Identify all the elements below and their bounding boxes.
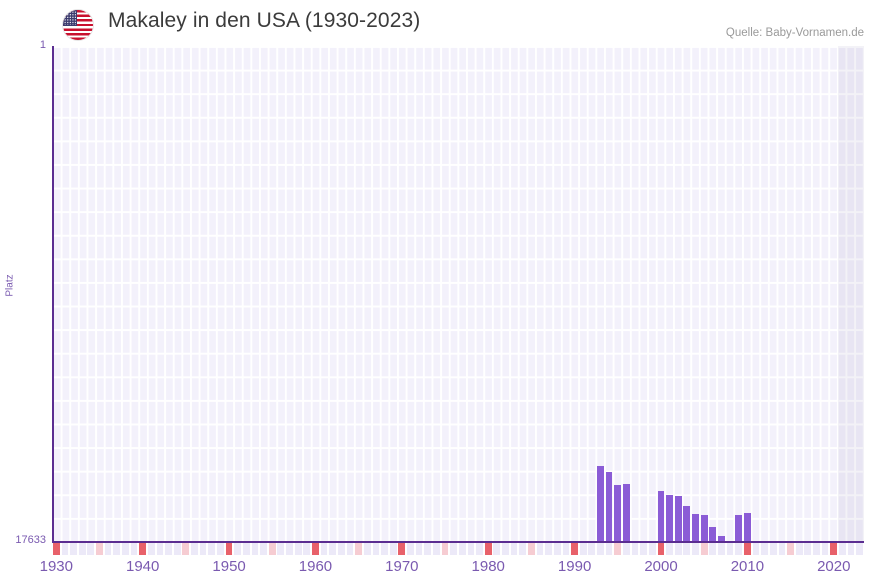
bar-2003 (683, 506, 690, 541)
x-tick-cell-1999 (649, 543, 656, 555)
bar-2002 (675, 496, 682, 541)
x-tick-cell-2017 (804, 543, 811, 555)
x-tick-major-2020 (830, 543, 837, 555)
x-tick-cell-2022 (848, 543, 855, 555)
x-tick-cell-1974 (433, 543, 440, 555)
x-tick-cell-1972 (416, 543, 423, 555)
x-tick-cell-1986 (537, 543, 544, 555)
x-axis-label-2000: 2000 (644, 558, 677, 575)
x-tick-major-1930 (53, 543, 60, 555)
x-tick-minor-2015 (787, 543, 794, 555)
x-tick-cell-1981 (493, 543, 500, 555)
x-tick-cell-1968 (381, 543, 388, 555)
x-tick-minor-1935 (96, 543, 103, 555)
x-tick-cell-2018 (813, 543, 820, 555)
x-tick-major-1940 (139, 543, 146, 555)
x-tick-major-2010 (744, 543, 751, 555)
x-axis-label-1940: 1940 (126, 558, 159, 575)
x-tick-cell-2006 (709, 543, 716, 555)
x-axis-tick-strip (52, 543, 864, 555)
x-tick-cell-2014 (779, 543, 786, 555)
x-tick-minor-1965 (355, 543, 362, 555)
x-axis-label-1930: 1930 (40, 558, 73, 575)
x-tick-cell-1938 (122, 543, 129, 555)
x-axis-label-1990: 1990 (558, 558, 591, 575)
x-tick-cell-1966 (364, 543, 371, 555)
x-tick-cell-1996 (623, 543, 630, 555)
bar-2006 (709, 527, 716, 541)
x-tick-cell-2023 (856, 543, 863, 555)
x-tick-cell-1956 (277, 543, 284, 555)
x-tick-cell-1932 (70, 543, 77, 555)
bar-1996 (623, 484, 630, 541)
x-tick-minor-1945 (182, 543, 189, 555)
x-tick-cell-1936 (105, 543, 112, 555)
x-tick-cell-1947 (200, 543, 207, 555)
x-tick-cell-2021 (839, 543, 846, 555)
plot-area (52, 46, 864, 541)
x-tick-minor-1975 (442, 543, 449, 555)
bar-2010 (744, 513, 751, 541)
x-tick-cell-1976 (450, 543, 457, 555)
x-tick-cell-1951 (234, 543, 241, 555)
x-tick-cell-1982 (502, 543, 509, 555)
x-tick-cell-2002 (675, 543, 682, 555)
source-note: Quelle: Baby-Vornamen.de (726, 27, 864, 39)
x-tick-cell-1993 (597, 543, 604, 555)
x-axis-label-2020: 2020 (817, 558, 850, 575)
x-tick-minor-1995 (614, 543, 621, 555)
x-tick-cell-1973 (424, 543, 431, 555)
y-axis-label-top: 1 (0, 39, 46, 51)
bar-1994 (606, 472, 613, 541)
bar-2000 (658, 491, 665, 541)
x-tick-cell-1954 (260, 543, 267, 555)
x-tick-cell-1964 (347, 543, 354, 555)
x-tick-cell-1977 (459, 543, 466, 555)
x-tick-cell-1958 (295, 543, 302, 555)
chart-container: Makaley in den USA (1930-2023) Quelle: B… (0, 0, 873, 587)
x-tick-cell-1998 (640, 543, 647, 555)
x-tick-cell-1962 (329, 543, 336, 555)
x-tick-cell-1992 (588, 543, 595, 555)
x-tick-major-1970 (398, 543, 405, 555)
x-tick-cell-1988 (554, 543, 561, 555)
x-tick-cell-2008 (727, 543, 734, 555)
bar-2009 (735, 515, 742, 541)
x-tick-cell-1952 (243, 543, 250, 555)
x-tick-cell-1961 (321, 543, 328, 555)
x-tick-cell-2004 (692, 543, 699, 555)
x-tick-cell-1963 (338, 543, 345, 555)
x-tick-cell-1942 (157, 543, 164, 555)
x-tick-cell-1983 (511, 543, 518, 555)
x-tick-major-1960 (312, 543, 319, 555)
x-tick-cell-2011 (753, 543, 760, 555)
x-tick-cell-1994 (606, 543, 613, 555)
x-tick-cell-2001 (666, 543, 673, 555)
x-tick-cell-1933 (79, 543, 86, 555)
x-tick-cell-2003 (683, 543, 690, 555)
y-axis-title: Platz (5, 264, 16, 308)
x-tick-cell-2012 (761, 543, 768, 555)
x-tick-minor-1985 (528, 543, 535, 555)
bar-1995 (614, 485, 621, 542)
x-tick-cell-1984 (519, 543, 526, 555)
x-tick-major-1980 (485, 543, 492, 555)
x-tick-cell-2013 (770, 543, 777, 555)
chart-header: Makaley in den USA (1930-2023) Quelle: B… (0, 0, 873, 46)
x-axis-label-1980: 1980 (472, 558, 505, 575)
x-tick-major-1950 (226, 543, 233, 555)
x-tick-cell-1939 (131, 543, 138, 555)
x-tick-cell-1969 (390, 543, 397, 555)
x-tick-major-2000 (658, 543, 665, 555)
x-tick-cell-2007 (718, 543, 725, 555)
bar-2001 (666, 495, 673, 541)
flag-canton (63, 10, 77, 26)
bar-2005 (701, 515, 708, 541)
x-axis-labels: 1930194019501960197019801990200020102020 (0, 558, 873, 582)
x-tick-cell-1987 (545, 543, 552, 555)
x-tick-cell-1949 (217, 543, 224, 555)
x-tick-cell-1953 (252, 543, 259, 555)
x-tick-cell-2016 (796, 543, 803, 555)
x-tick-cell-1944 (174, 543, 181, 555)
us-flag-icon (63, 10, 93, 40)
y-axis-label-bottom: 17633 (0, 534, 46, 546)
x-tick-cell-1948 (208, 543, 215, 555)
x-tick-cell-1989 (563, 543, 570, 555)
x-tick-cell-1957 (286, 543, 293, 555)
x-tick-cell-1979 (476, 543, 483, 555)
x-axis-label-2010: 2010 (731, 558, 764, 575)
x-tick-cell-1967 (373, 543, 380, 555)
chart-title: Makaley in den USA (1930-2023) (108, 9, 420, 33)
x-tick-minor-1955 (269, 543, 276, 555)
x-axis-label-1970: 1970 (385, 558, 418, 575)
x-tick-cell-1971 (407, 543, 414, 555)
bar-1993 (597, 466, 604, 541)
x-axis-label-1950: 1950 (212, 558, 245, 575)
x-tick-cell-1934 (87, 543, 94, 555)
x-tick-cell-1978 (468, 543, 475, 555)
horizontal-gridlines (52, 46, 864, 541)
bar-2004 (692, 514, 699, 541)
x-tick-cell-1941 (148, 543, 155, 555)
x-tick-cell-1991 (580, 543, 587, 555)
x-tick-major-1990 (571, 543, 578, 555)
x-axis-label-1960: 1960 (299, 558, 332, 575)
x-tick-cell-1959 (303, 543, 310, 555)
x-tick-minor-2005 (701, 543, 708, 555)
x-tick-cell-1946 (191, 543, 198, 555)
x-tick-cell-2009 (735, 543, 742, 555)
x-tick-cell-1943 (165, 543, 172, 555)
x-tick-cell-1937 (113, 543, 120, 555)
x-tick-cell-1997 (632, 543, 639, 555)
y-axis-line (52, 46, 54, 541)
x-tick-cell-2019 (822, 543, 829, 555)
x-tick-cell-1931 (62, 543, 69, 555)
